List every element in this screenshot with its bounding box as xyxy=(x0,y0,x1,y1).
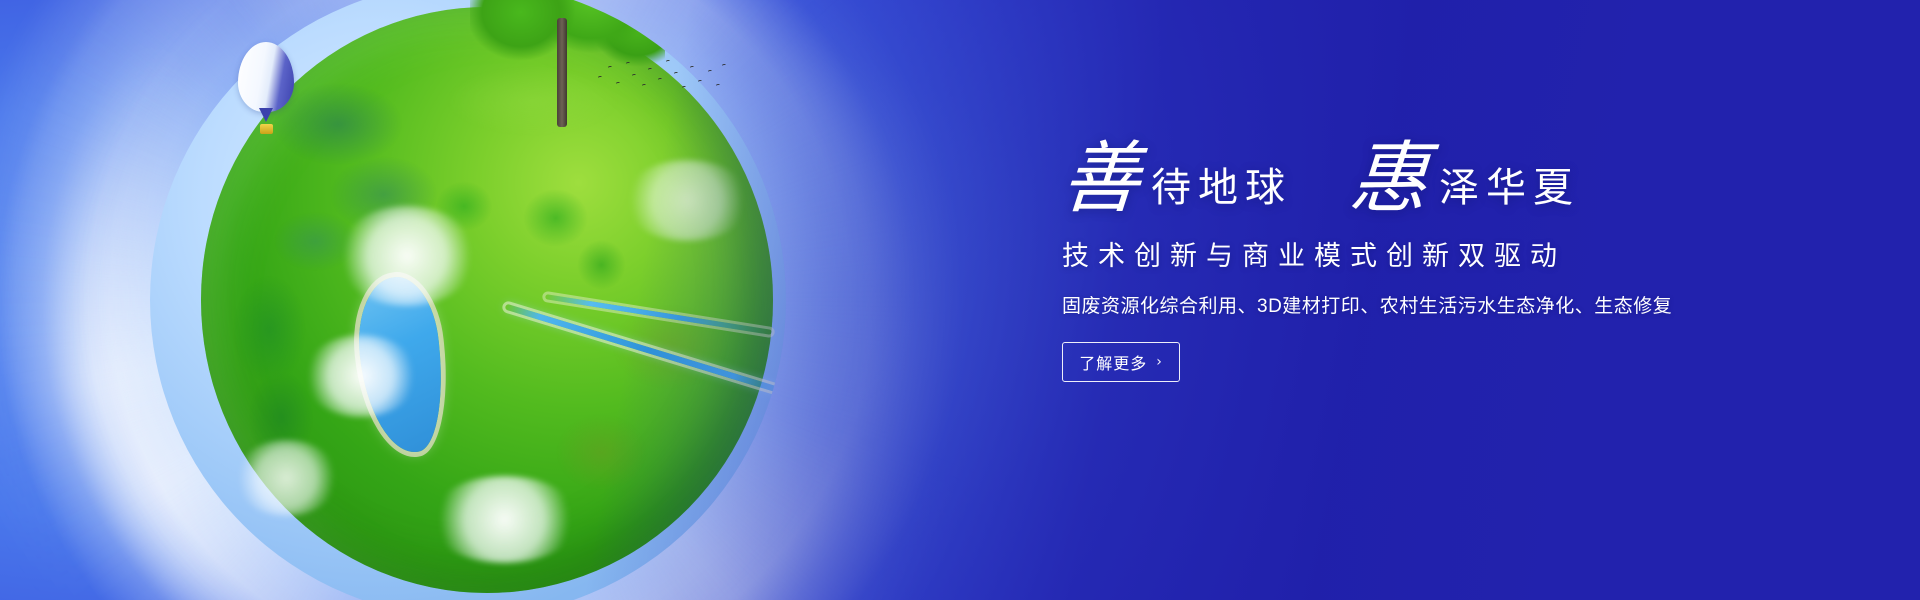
headline-char-2: 惠 xyxy=(1347,140,1431,218)
subtitle: 技术创新与商业模式创新双驱动 xyxy=(1062,234,1822,273)
headline-char-1: 善 xyxy=(1059,140,1143,218)
headline: 善 待地球 惠 泽华夏 xyxy=(1062,140,1822,218)
learn-more-button[interactable]: 了解更多 › xyxy=(1062,342,1180,382)
description: 固废资源化综合利用、3D建材打印、农村生活污水生态净化、生态修复 xyxy=(1062,291,1822,318)
hero-content: 善 待地球 惠 泽华夏 技术创新与商业模式创新双驱动 固废资源化综合利用、3D建… xyxy=(1062,140,1822,382)
headline-phrase-2: 泽华夏 xyxy=(1439,168,1580,208)
headline-phrase-1: 待地球 xyxy=(1151,168,1292,208)
chevron-right-icon: › xyxy=(1156,355,1163,369)
learn-more-label: 了解更多 xyxy=(1079,350,1147,374)
hero-banner: 善 待地球 惠 泽华夏 技术创新与商业模式创新双驱动 固废资源化综合利用、3D建… xyxy=(0,0,1920,600)
